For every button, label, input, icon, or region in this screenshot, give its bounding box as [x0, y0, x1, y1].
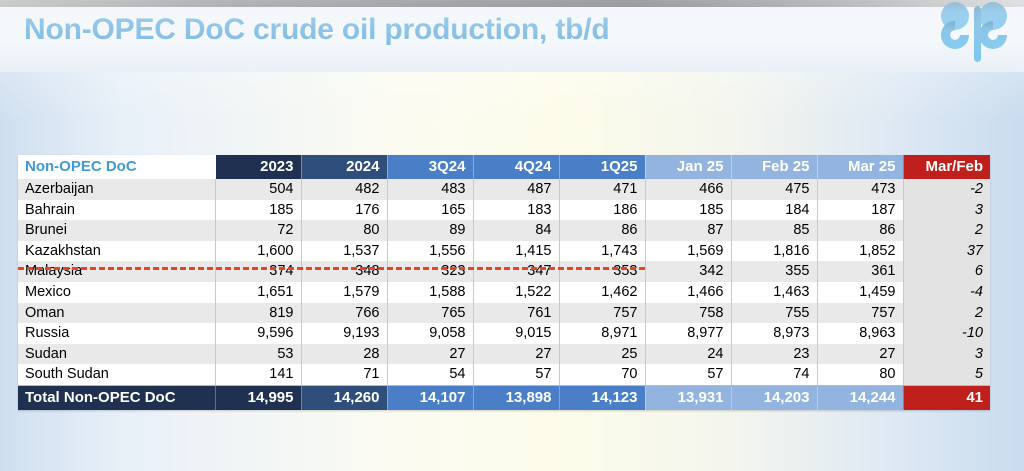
cell-2024: 1,537 — [301, 241, 387, 262]
title-bar: Non-OPEC DoC crude oil production, tb/d — [0, 0, 1024, 72]
cell-feb25: 1,816 — [731, 241, 817, 262]
cell-3q24: 323 — [387, 261, 473, 282]
header-col-2023[interactable]: 2023 — [215, 155, 301, 179]
table-row: South Sudan141715457705774805 — [18, 364, 990, 385]
row-country-label: Russia — [18, 323, 215, 344]
cell-feb25: 85 — [731, 220, 817, 241]
cell-mar25: 1,852 — [817, 241, 903, 262]
cell-mar25: 27 — [817, 344, 903, 365]
table-header-row: Non-OPEC DoC 2023 2024 3Q24 4Q24 1Q25 Ja… — [18, 155, 990, 179]
cell-2023: 185 — [215, 200, 301, 221]
cell-1q25: 8,971 — [559, 323, 645, 344]
total-jan25: 13,931 — [645, 385, 731, 410]
cell-1q25: 25 — [559, 344, 645, 365]
cell-3q24: 1,556 — [387, 241, 473, 262]
cell-4q24: 1,522 — [473, 282, 559, 303]
header-col-4q24[interactable]: 4Q24 — [473, 155, 559, 179]
row-country-label: Sudan — [18, 344, 215, 365]
cell-1q25: 757 — [559, 303, 645, 324]
cell-mar25: 757 — [817, 303, 903, 324]
production-table-container: Non-OPEC DoC 2023 2024 3Q24 4Q24 1Q25 Ja… — [18, 155, 990, 410]
cell-feb25: 755 — [731, 303, 817, 324]
cell-mar-feb: 37 — [903, 241, 990, 262]
cell-4q24: 84 — [473, 220, 559, 241]
row-country-label: Azerbaijan — [18, 179, 215, 200]
cell-1q25: 86 — [559, 220, 645, 241]
cell-feb25: 355 — [731, 261, 817, 282]
cell-jan25: 24 — [645, 344, 731, 365]
cell-mar-feb: -4 — [903, 282, 990, 303]
cell-mar25: 473 — [817, 179, 903, 200]
cell-mar-feb: 3 — [903, 200, 990, 221]
cell-jan25: 1,569 — [645, 241, 731, 262]
cell-1q25: 353 — [559, 261, 645, 282]
cell-mar25: 361 — [817, 261, 903, 282]
cell-feb25: 8,973 — [731, 323, 817, 344]
row-country-label: Kazakhstan — [18, 241, 215, 262]
total-label: Total Non-OPEC DoC — [18, 385, 215, 410]
cell-3q24: 483 — [387, 179, 473, 200]
total-3q24: 14,107 — [387, 385, 473, 410]
cell-2023: 1,651 — [215, 282, 301, 303]
cell-3q24: 165 — [387, 200, 473, 221]
header-col-2024[interactable]: 2024 — [301, 155, 387, 179]
slide-canvas: Non-OPEC DoC crude oil production, tb/d — [0, 0, 1024, 471]
cell-1q25: 186 — [559, 200, 645, 221]
cell-1q25: 1,462 — [559, 282, 645, 303]
cell-1q25: 471 — [559, 179, 645, 200]
cell-3q24: 27 — [387, 344, 473, 365]
total-2023: 14,995 — [215, 385, 301, 410]
table-row: Azerbaijan504482483487471466475473-2 — [18, 179, 990, 200]
table-row: Mexico1,6511,5791,5881,5221,4621,4661,46… — [18, 282, 990, 303]
row-country-label: Mexico — [18, 282, 215, 303]
table-row: Bahrain1851761651831861851841873 — [18, 200, 990, 221]
cell-mar-feb: 5 — [903, 364, 990, 385]
table-row: Oman8197667657617577587557572 — [18, 303, 990, 324]
table-total-row: Total Non-OPEC DoC 14,995 14,260 14,107 … — [18, 385, 990, 410]
cell-3q24: 54 — [387, 364, 473, 385]
row-country-label: Brunei — [18, 220, 215, 241]
cell-3q24: 1,588 — [387, 282, 473, 303]
production-table: Non-OPEC DoC 2023 2024 3Q24 4Q24 1Q25 Ja… — [18, 155, 990, 410]
row-country-label: Bahrain — [18, 200, 215, 221]
total-2024: 14,260 — [301, 385, 387, 410]
cell-jan25: 57 — [645, 364, 731, 385]
cell-3q24: 765 — [387, 303, 473, 324]
table-body: Azerbaijan504482483487471466475473-2Bahr… — [18, 179, 990, 385]
cell-mar25: 187 — [817, 200, 903, 221]
cell-4q24: 27 — [473, 344, 559, 365]
total-feb25: 14,203 — [731, 385, 817, 410]
header-col-mar25[interactable]: Mar 25 — [817, 155, 903, 179]
cell-4q24: 347 — [473, 261, 559, 282]
cell-2024: 1,579 — [301, 282, 387, 303]
cell-2023: 72 — [215, 220, 301, 241]
cell-mar-feb: 3 — [903, 344, 990, 365]
cell-2024: 71 — [301, 364, 387, 385]
cell-2023: 141 — [215, 364, 301, 385]
cell-mar25: 1,459 — [817, 282, 903, 303]
cell-jan25: 1,466 — [645, 282, 731, 303]
cell-mar-feb: 2 — [903, 220, 990, 241]
table-row: Kazakhstan1,6001,5371,5561,4151,7431,569… — [18, 241, 990, 262]
cell-2024: 80 — [301, 220, 387, 241]
cell-mar25: 86 — [817, 220, 903, 241]
cell-4q24: 1,415 — [473, 241, 559, 262]
row-country-label: South Sudan — [18, 364, 215, 385]
total-1q25: 14,123 — [559, 385, 645, 410]
row-country-label: Oman — [18, 303, 215, 324]
header-col-mar-feb[interactable]: Mar/Feb — [903, 155, 990, 179]
cell-4q24: 183 — [473, 200, 559, 221]
cell-mar-feb: -2 — [903, 179, 990, 200]
cell-feb25: 74 — [731, 364, 817, 385]
header-col-feb25[interactable]: Feb 25 — [731, 155, 817, 179]
table-row: Sudan53282727252423273 — [18, 344, 990, 365]
cell-jan25: 87 — [645, 220, 731, 241]
cell-2024: 9,193 — [301, 323, 387, 344]
row-country-label: Malaysia — [18, 261, 215, 282]
cell-feb25: 23 — [731, 344, 817, 365]
header-col-jan25[interactable]: Jan 25 — [645, 155, 731, 179]
cell-2023: 819 — [215, 303, 301, 324]
cell-4q24: 57 — [473, 364, 559, 385]
cell-2023: 53 — [215, 344, 301, 365]
cell-jan25: 466 — [645, 179, 731, 200]
cell-jan25: 758 — [645, 303, 731, 324]
cell-feb25: 1,463 — [731, 282, 817, 303]
cell-jan25: 185 — [645, 200, 731, 221]
header-col-1q25[interactable]: 1Q25 — [559, 155, 645, 179]
cell-mar25: 8,963 — [817, 323, 903, 344]
cell-2024: 482 — [301, 179, 387, 200]
cell-2024: 766 — [301, 303, 387, 324]
table-row: Malaysia3743483233473533423553616 — [18, 261, 990, 282]
cell-mar-feb: 2 — [903, 303, 990, 324]
cell-2024: 176 — [301, 200, 387, 221]
table-row: Brunei72808984868785862 — [18, 220, 990, 241]
cell-4q24: 487 — [473, 179, 559, 200]
cell-jan25: 8,977 — [645, 323, 731, 344]
cell-1q25: 1,743 — [559, 241, 645, 262]
cell-2023: 9,596 — [215, 323, 301, 344]
opec-logo — [938, 2, 1022, 64]
top-accent-strip — [0, 0, 1024, 7]
cell-2023: 374 — [215, 261, 301, 282]
cell-4q24: 761 — [473, 303, 559, 324]
cell-feb25: 475 — [731, 179, 817, 200]
table-row: Russia9,5969,1939,0589,0158,9718,9778,97… — [18, 323, 990, 344]
total-mar25: 14,244 — [817, 385, 903, 410]
cell-1q25: 70 — [559, 364, 645, 385]
cell-3q24: 9,058 — [387, 323, 473, 344]
cell-mar25: 80 — [817, 364, 903, 385]
cell-3q24: 89 — [387, 220, 473, 241]
total-mar-feb: 41 — [903, 385, 990, 410]
cell-mar-feb: 6 — [903, 261, 990, 282]
total-4q24: 13,898 — [473, 385, 559, 410]
cell-jan25: 342 — [645, 261, 731, 282]
header-corner-label: Non-OPEC DoC — [18, 155, 215, 179]
page-title: Non-OPEC DoC crude oil production, tb/d — [24, 13, 610, 47]
cell-2024: 28 — [301, 344, 387, 365]
header-col-3q24[interactable]: 3Q24 — [387, 155, 473, 179]
cell-mar-feb: -10 — [903, 323, 990, 344]
cell-feb25: 184 — [731, 200, 817, 221]
cell-4q24: 9,015 — [473, 323, 559, 344]
cell-2024: 348 — [301, 261, 387, 282]
cell-2023: 504 — [215, 179, 301, 200]
cell-2023: 1,600 — [215, 241, 301, 262]
